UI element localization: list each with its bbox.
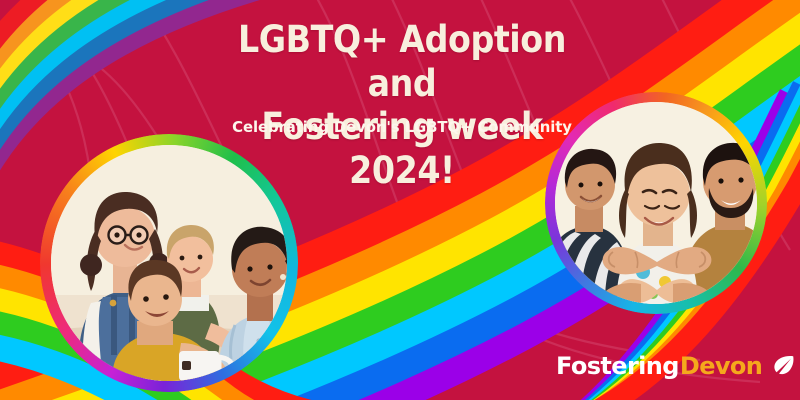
pride-campaign-banner: LGBTQ+ Adoption and Fostering week 2024!… <box>0 0 800 400</box>
logo-word-devon: Devon <box>680 352 762 380</box>
fostering-devon-logo[interactable]: Fostering Devon <box>556 352 796 380</box>
logo-word-fostering: Fostering <box>556 352 679 380</box>
page-subtitle: Celebrating Devon's LGBTQ+ Community <box>195 118 610 136</box>
leaf-icon <box>770 353 796 379</box>
headline-line-1: LGBTQ+ Adoption and <box>238 18 566 105</box>
page-title: LGBTQ+ Adoption and Fostering week 2024! <box>208 18 597 193</box>
